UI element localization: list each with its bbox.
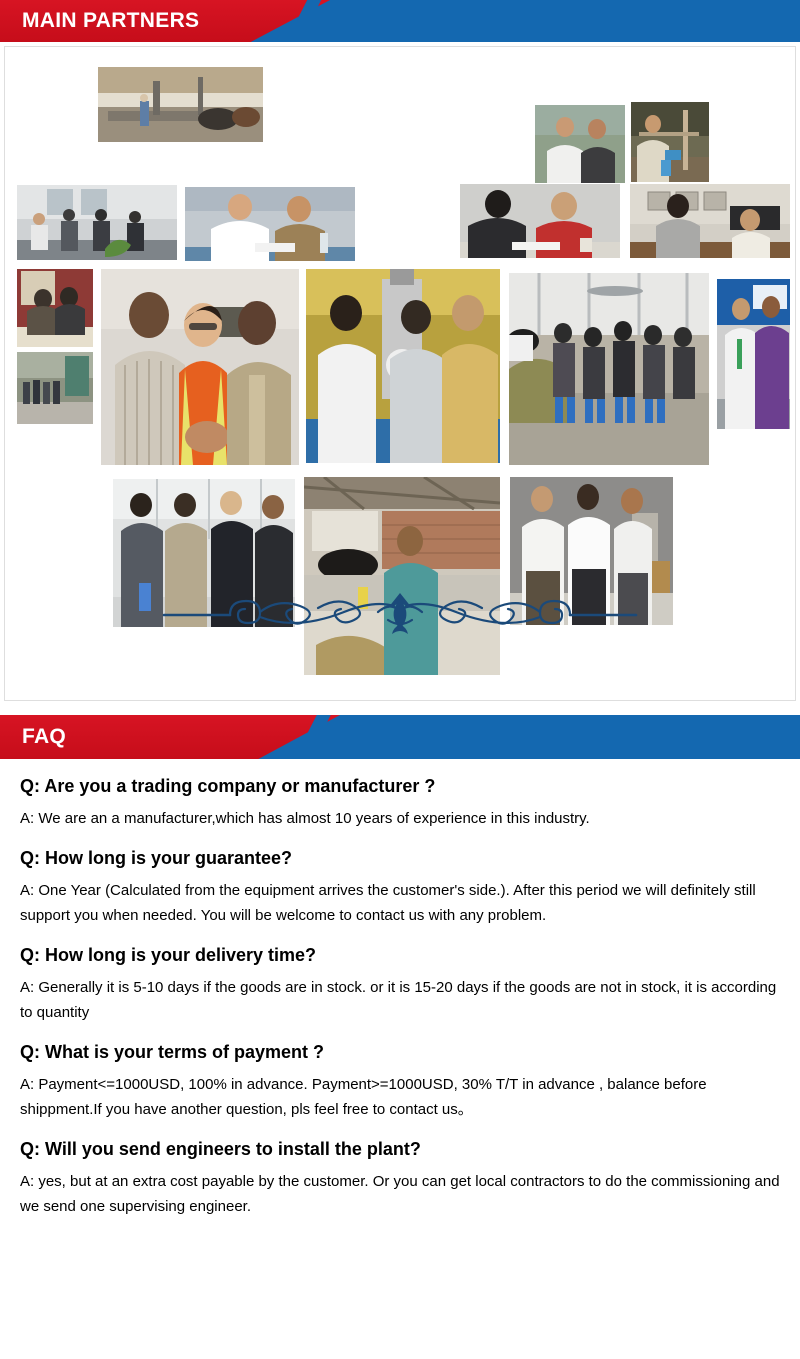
photo-plant-equipment-inspection (306, 269, 500, 463)
photo-exhibition-booth-pair (717, 279, 790, 429)
faq-question: Q: How long is your delivery time? (20, 944, 780, 967)
faq-banner: FAQ (0, 715, 800, 759)
faq-item: Q: What is your terms of payment ? A: Pa… (20, 1041, 780, 1122)
photo-office-handshake (630, 184, 790, 258)
photo-trade-show-desk-discussion (185, 187, 355, 261)
faq-question: Q: Will you send engineers to install th… (20, 1138, 780, 1161)
photo-two-men-portrait-outdoor (535, 105, 625, 183)
main-partners-title: MAIN PARTNERS (22, 0, 199, 42)
partners-photo-collage (5, 47, 795, 647)
faq-answer: A: yes, but at an extra cost payable by … (20, 1170, 780, 1220)
faq-question: Q: Are you a trading company or manufact… (20, 775, 780, 798)
faq-item: Q: Are you a trading company or manufact… (20, 775, 780, 831)
faq-question: Q: How long is your guarantee? (20, 847, 780, 870)
faq-item: Q: Will you send engineers to install th… (20, 1138, 780, 1219)
partners-panel (4, 46, 796, 701)
photo-man-at-cattle-feed-trough (304, 477, 500, 675)
photo-dairy-barn-inspection (98, 67, 263, 142)
faq-title: FAQ (22, 715, 66, 759)
faq-answer: A: Generally it is 5-10 days if the good… (20, 976, 780, 1026)
decorative-flourish-icon (160, 590, 640, 636)
faq-answer: A: Payment<=1000USD, 100% in advance. Pa… (20, 1073, 780, 1123)
photo-factory-floor-visitors (17, 352, 93, 424)
faq-question: Q: What is your terms of payment ? (20, 1041, 780, 1064)
ornament-divider-wrap (5, 589, 795, 637)
photo-three-people-group-photo (101, 269, 299, 465)
faq-answer: A: One Year (Calculated from the equipme… (20, 879, 780, 929)
photo-barn-delegation-tour (509, 273, 709, 465)
main-partners-banner: MAIN PARTNERS (0, 0, 800, 42)
photo-small-office-pair (17, 269, 93, 347)
section-gap (0, 701, 800, 715)
faq-answer: A: We are an a manufacturer,which has al… (20, 807, 780, 832)
photo-office-meeting-group (17, 185, 177, 260)
photo-contract-signing-meeting (460, 184, 620, 258)
faq-item: Q: How long is your delivery time? A: Ge… (20, 944, 780, 1025)
faq-list: Q: Are you a trading company or manufact… (0, 759, 800, 1229)
photo-farmer-with-equipment (631, 102, 709, 182)
faq-item: Q: How long is your guarantee? A: One Ye… (20, 847, 780, 928)
